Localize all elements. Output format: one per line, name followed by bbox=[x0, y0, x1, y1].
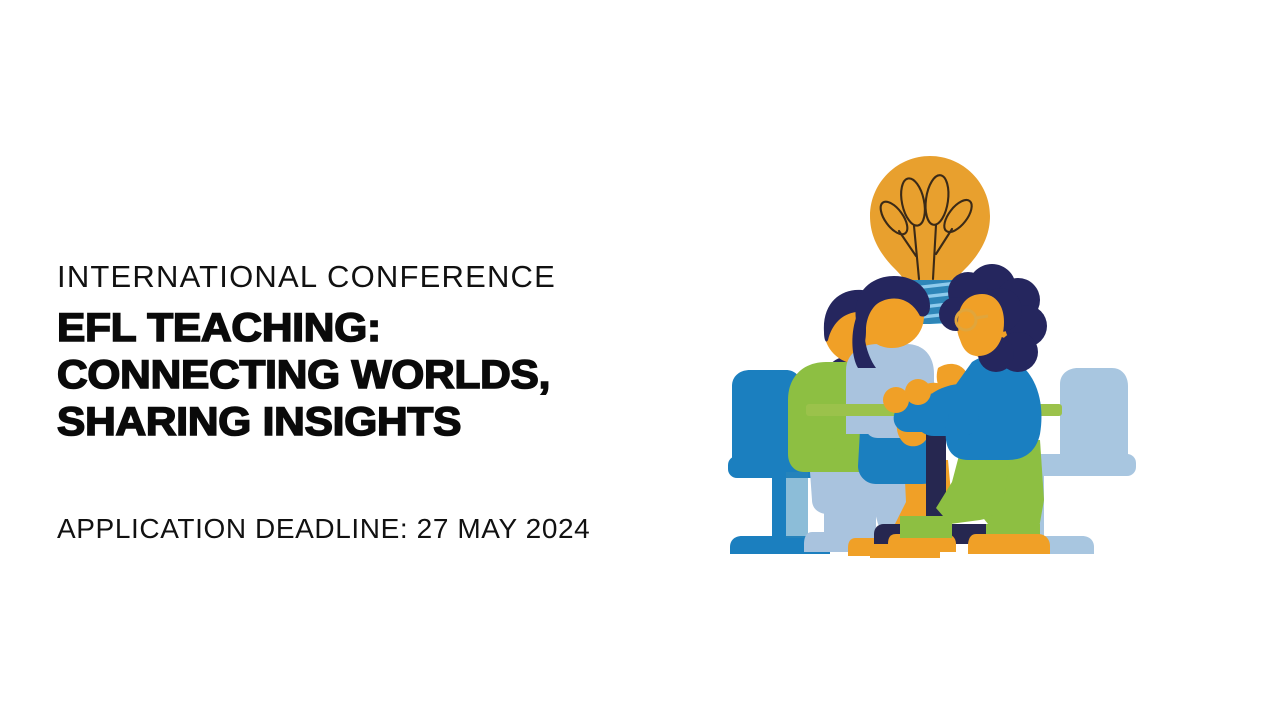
illustration-three-people-lightbulb bbox=[700, 104, 1160, 584]
headline-line-2: CONNECTING WORLDS, bbox=[57, 352, 714, 399]
headline-line-1: EFL TEACHING: bbox=[57, 305, 714, 352]
banner-text-block: INTERNATIONAL CONFERENCE EFL TEACHING: C… bbox=[57, 258, 677, 446]
eyebrow-label: INTERNATIONAL CONFERENCE bbox=[57, 258, 677, 297]
page-title: EFL TEACHING: CONNECTING WORLDS, SHARING… bbox=[57, 305, 677, 447]
headline-line-3: SHARING INSIGHTS bbox=[57, 399, 714, 446]
conference-banner: INTERNATIONAL CONFERENCE EFL TEACHING: C… bbox=[0, 0, 1270, 714]
application-deadline: APPLICATION DEADLINE: 27 MAY 2024 bbox=[57, 513, 590, 545]
